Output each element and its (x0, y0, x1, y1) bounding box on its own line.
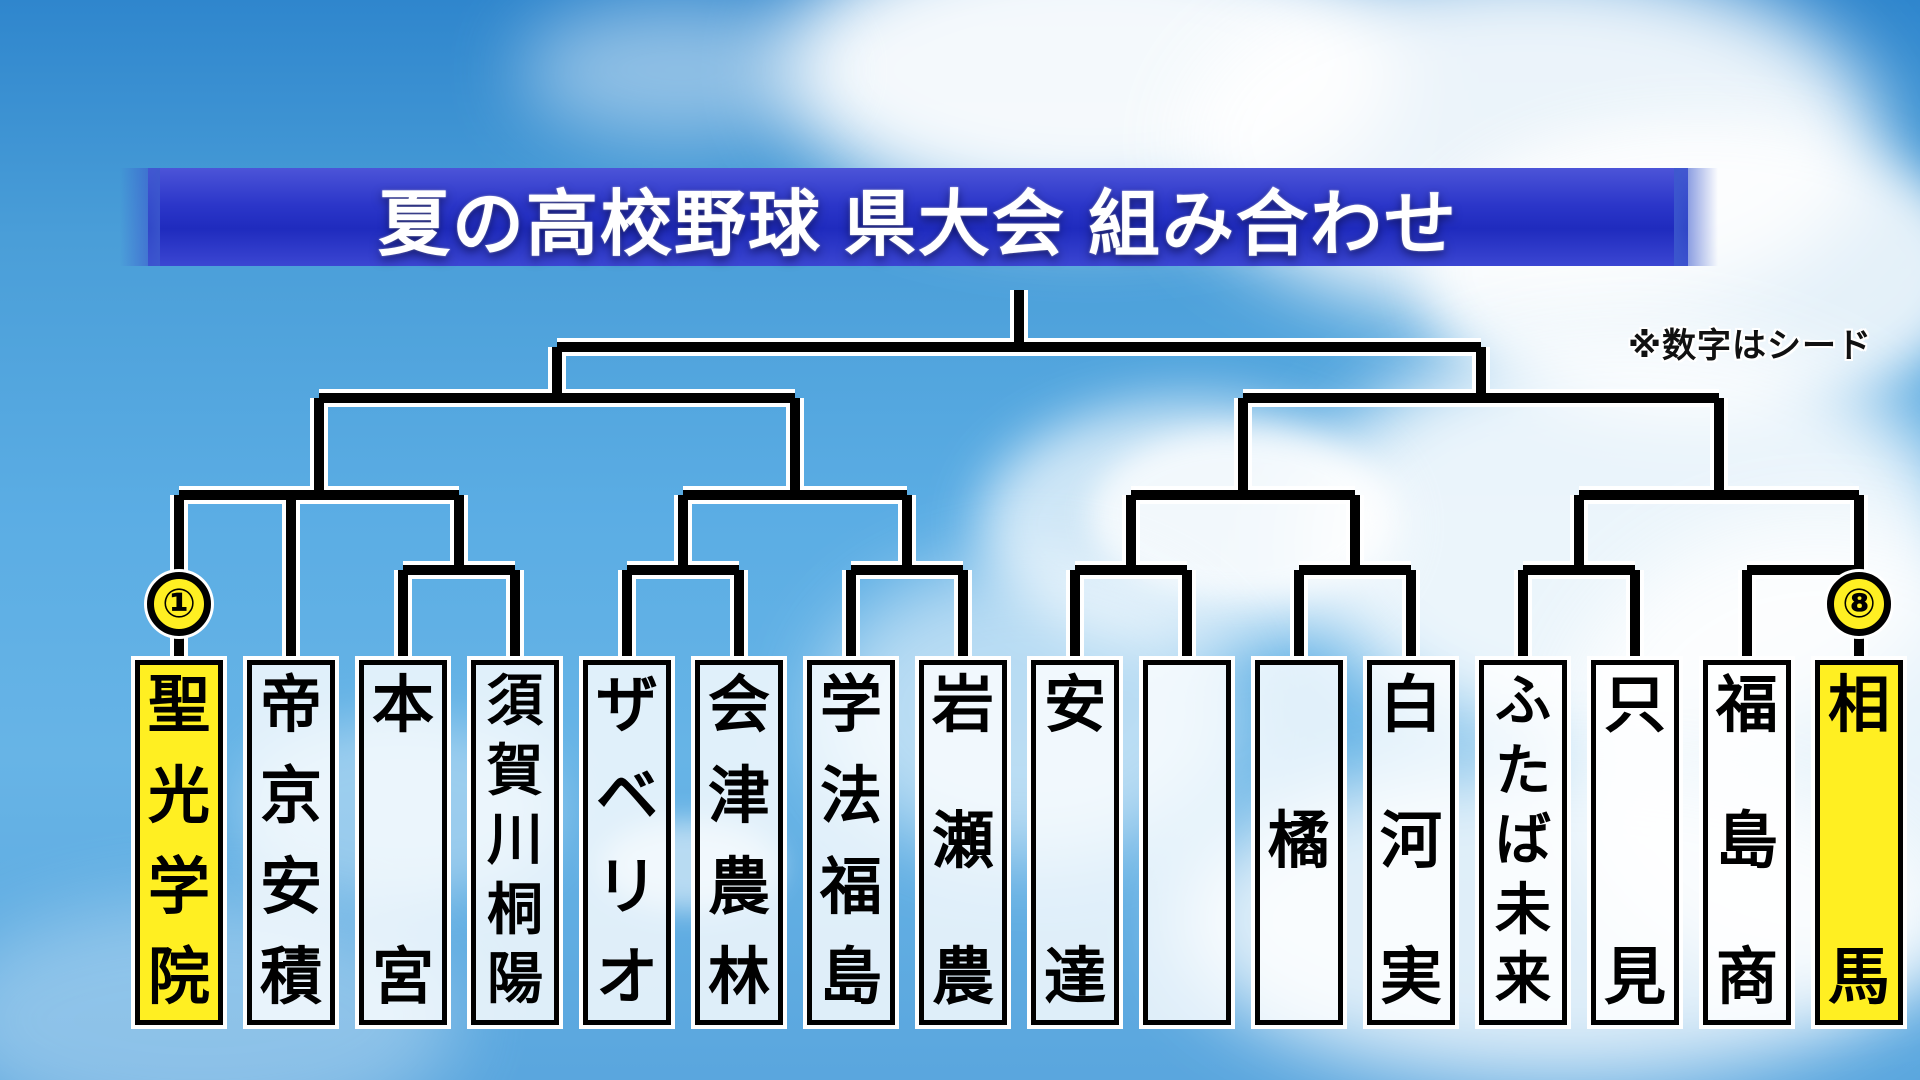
team-name-char: 農 (932, 947, 994, 1008)
seed-badge-1: ① (147, 572, 211, 636)
team-name-char: 白 (1380, 675, 1442, 736)
team-name-char: 見 (1604, 947, 1666, 1008)
team-name-char: ふ (1495, 675, 1551, 730)
team-name-char: 積 (260, 947, 322, 1008)
team-name-char: 聖 (148, 675, 210, 736)
team-name-char: ザ (596, 675, 658, 736)
team-name-char: 来 (1495, 953, 1551, 1008)
team-name-char: 帝 (260, 675, 322, 736)
team-name-char: 瀬 (932, 811, 994, 872)
team-name-char: 農 (708, 857, 770, 918)
team-name-char: オ (596, 947, 658, 1008)
team-box[interactable]: 須賀川桐陽 (471, 660, 559, 1025)
team-name-char: 未 (1495, 884, 1551, 939)
team-name-char: 河 (1380, 811, 1442, 872)
team-name-char: 福 (1716, 675, 1778, 736)
team-name-char: 本 (372, 675, 434, 736)
team-box[interactable]: 橘 (1255, 660, 1343, 1025)
team-name-char: 須 (487, 675, 543, 730)
team-box[interactable]: 白河実 (1367, 660, 1455, 1025)
team-name-char: 桐 (487, 884, 543, 939)
team-box[interactable]: 帝京安積 (247, 660, 335, 1025)
team-name-char: 馬 (1828, 947, 1890, 1008)
team-name-char: 会 (708, 675, 770, 736)
team-box[interactable]: ザベリオ (583, 660, 671, 1025)
team-box[interactable]: 安達 (1031, 660, 1119, 1025)
team-name-char: 法 (820, 766, 882, 827)
team-name-char: 橘 (1268, 811, 1330, 872)
team-name-char: 岩 (932, 675, 994, 736)
team-name-char: 京 (260, 766, 322, 827)
team-name-char: 宮 (372, 947, 434, 1008)
team-name-char: ベ (596, 766, 658, 827)
team-name-char: 商 (1716, 947, 1778, 1008)
team-box[interactable]: 相馬 (1815, 660, 1903, 1025)
team-name-char: 林 (708, 947, 770, 1008)
team-box-empty[interactable] (1143, 660, 1231, 1025)
team-box[interactable]: 本宮 (359, 660, 447, 1025)
team-name-char: ば (1495, 814, 1551, 869)
team-name-char: 実 (1380, 947, 1442, 1008)
team-box[interactable]: 聖光学院 (135, 660, 223, 1025)
team-name-char: 光 (148, 766, 210, 827)
team-name-char: 島 (820, 947, 882, 1008)
team-name-char: 福 (820, 857, 882, 918)
team-name-char: 津 (708, 766, 770, 827)
team-name-char: た (1495, 745, 1551, 800)
team-name-char: 相 (1828, 675, 1890, 736)
team-name-char: 只 (1604, 675, 1666, 736)
team-name-char: 川 (487, 814, 543, 869)
team-box[interactable]: 会津農林 (695, 660, 783, 1025)
team-name-char: 学 (148, 857, 210, 918)
team-name-char: 安 (260, 857, 322, 918)
team-name-char: リ (596, 857, 658, 918)
team-name-char: 島 (1716, 811, 1778, 872)
team-name-char: 陽 (487, 953, 543, 1008)
team-name-char: 達 (1044, 947, 1106, 1008)
team-box[interactable]: 学法福島 (807, 660, 895, 1025)
team-box[interactable]: 只見 (1591, 660, 1679, 1025)
team-name-char: 賀 (487, 745, 543, 800)
seed-badge-8: ⑧ (1827, 572, 1891, 636)
team-box[interactable]: 福島商 (1703, 660, 1791, 1025)
team-box[interactable]: ふたば未来 (1479, 660, 1567, 1025)
team-name-char: 学 (820, 675, 882, 736)
team-name-char: 安 (1044, 675, 1106, 736)
team-box[interactable]: 岩瀬農 (919, 660, 1007, 1025)
team-name-char: 院 (148, 947, 210, 1008)
